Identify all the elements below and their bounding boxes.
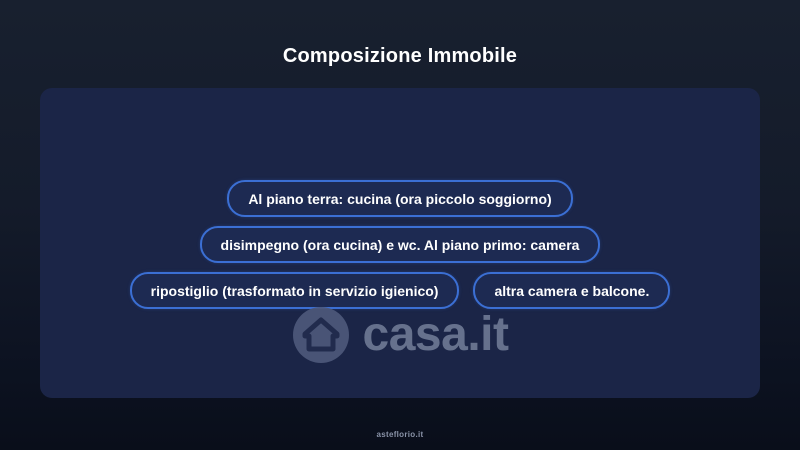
pill-list: Al piano terra: cucina (ora piccolo sogg…: [40, 180, 760, 318]
pill-row: ripostiglio (trasformato in servizio igi…: [40, 272, 760, 309]
composition-pill[interactable]: disimpegno (ora cucina) e wc. Al piano p…: [200, 226, 601, 263]
house-in-circle-icon: [292, 306, 350, 364]
footer-source-label: asteflorio.it: [0, 430, 800, 439]
casa-it-wordmark: casa.it: [363, 311, 509, 359]
pill-row: Al piano terra: cucina (ora piccolo sogg…: [40, 180, 760, 217]
screenshot-root: Composizione Immobile Al piano terra: cu…: [0, 0, 800, 450]
composition-pill[interactable]: altra camera e balcone.: [473, 272, 670, 309]
page-title: Composizione Immobile: [0, 42, 800, 70]
composition-pill[interactable]: Al piano terra: cucina (ora piccolo sogg…: [227, 180, 572, 217]
pill-row: disimpegno (ora cucina) e wc. Al piano p…: [40, 226, 760, 263]
casa-it-watermark: casa.it: [40, 306, 760, 364]
composition-card: Al piano terra: cucina (ora piccolo sogg…: [40, 88, 760, 398]
composition-pill[interactable]: ripostiglio (trasformato in servizio igi…: [130, 272, 460, 309]
